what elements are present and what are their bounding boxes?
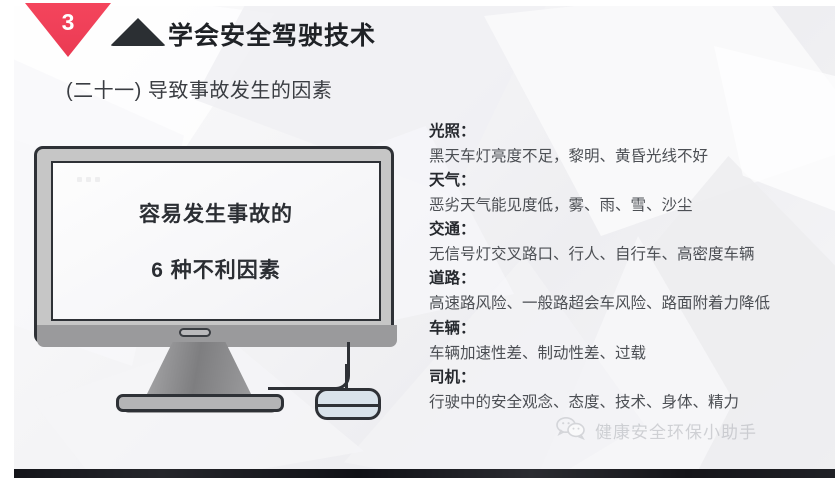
monitor-screen: 容易发生事故的 6 种不利因素: [51, 161, 381, 321]
factor-label: 天气：: [429, 169, 829, 193]
step-number: 3: [25, 3, 111, 57]
page-subtitle: (二十一) 导致事故发生的因素: [66, 74, 332, 103]
mouse-cable: [268, 342, 350, 390]
monitor-bezel: 容易发生事故的 6 种不利因素: [34, 146, 394, 344]
factor-detail: 恶劣天气能见度低，雾、雨、雪、沙尘: [429, 193, 829, 218]
factor-label: 光照：: [429, 120, 829, 144]
factor-detail: 行驶中的安全观念、态度、技术、身体、精力: [429, 390, 829, 415]
factor-detail: 车辆加速性差、制动性差、过载: [429, 341, 829, 366]
monitor-power-button: [179, 328, 211, 337]
factor-label: 道路：: [429, 267, 829, 291]
watermark: 健康安全环保小助手: [556, 416, 757, 445]
screen-text-line-2: 6 种不利因素: [151, 254, 281, 284]
mouse-cable-drop: [345, 364, 348, 390]
factor-list: 光照： 黑天车灯亮度不足，黎明、黄昏光线不好 天气： 恶劣天气能见度低，雾、雨、…: [429, 120, 829, 415]
factor-label: 车辆：: [429, 317, 829, 341]
bottom-strip: [14, 469, 835, 478]
factor-detail: 高速路风险、一般路超会车风险、路面附着力降低: [429, 291, 829, 316]
screen-text-line-1: 容易发生事故的: [139, 198, 293, 228]
page-title: 学会安全驾驶技术: [168, 16, 376, 52]
factor-detail: 无信号灯交叉路口、行人、自行车、高密度车辆: [429, 242, 829, 267]
monitor-base: [116, 394, 284, 412]
factor-label: 交通：: [429, 218, 829, 242]
screen-dots-icon: [77, 177, 100, 182]
slide-canvas: 3 学会安全驾驶技术 (二十一) 导致事故发生的因素 容易发生事故的 6 种不利…: [0, 0, 835, 478]
watermark-text: 健康安全环保小助手: [595, 418, 757, 443]
wechat-icon: [556, 416, 586, 445]
monitor-illustration: 容易发生事故的 6 种不利因素: [34, 146, 394, 376]
mouse-button-divider: [318, 404, 378, 407]
factor-label: 司机：: [429, 366, 829, 390]
monitor-stand-neck-outline: [144, 342, 254, 400]
factor-detail: 黑天车灯亮度不足，黎明、黄昏光线不好: [429, 144, 829, 169]
